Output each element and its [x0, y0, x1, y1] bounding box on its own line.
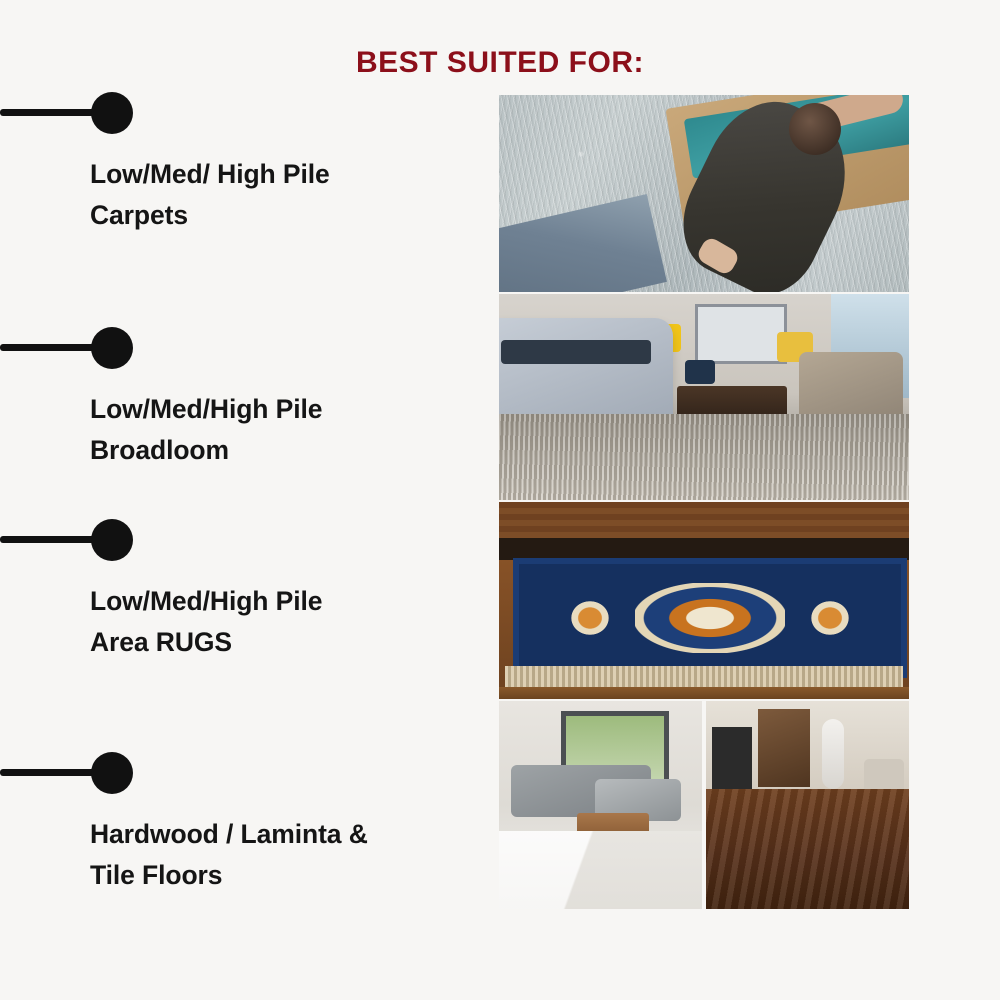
- chair-shape: [864, 759, 904, 793]
- broadloom-living-room-photo: [499, 294, 909, 500]
- persian-rug: [513, 558, 907, 678]
- floor-lamp: [822, 719, 844, 789]
- list-item-label: Hardwood / Laminta & Tile Floors: [90, 814, 510, 896]
- rug-ornament-right: [801, 592, 859, 644]
- sofa-shape: [499, 318, 673, 428]
- hardwood-floor-photo: [706, 701, 909, 909]
- hardwood-laminate-floor: [706, 789, 909, 909]
- list-item-line2: Carpets: [90, 200, 188, 230]
- sofa-cushion: [501, 340, 651, 364]
- bullet-dot: [91, 327, 133, 369]
- tile-floor-photo: [499, 701, 702, 909]
- broadloom-carpet: [499, 414, 909, 500]
- list-item-line2: Tile Floors: [90, 860, 222, 890]
- photo-column: [499, 95, 909, 909]
- area-rug-photo: [499, 502, 909, 699]
- black-shelf: [712, 727, 752, 789]
- bullet-dot: [91, 92, 133, 134]
- wood-wall: [499, 502, 909, 538]
- list-item-label: Low/Med/High Pile Area RUGS: [90, 581, 470, 663]
- list-item-label: Low/Med/ High Pile Carpets: [90, 154, 470, 236]
- wood-wall-panel: [758, 709, 810, 787]
- list-item-label: Low/Med/High Pile Broadloom: [90, 389, 470, 471]
- list-item-line1: Low/Med/High Pile: [90, 586, 322, 616]
- infographic-page: BEST SUITED FOR: Low/Med/ High Pile Carp…: [0, 0, 1000, 1000]
- bullet-dot: [91, 519, 133, 561]
- wall-art: [695, 304, 787, 364]
- throw-pillow: [685, 360, 715, 384]
- bullet-dot: [91, 752, 133, 794]
- list-item-line1: Low/Med/ High Pile: [90, 159, 330, 189]
- rug-medallion: [635, 583, 785, 653]
- feature-list: Low/Med/ High Pile Carpets Low/Med/High …: [0, 0, 480, 1000]
- list-item-line1: Low/Med/High Pile: [90, 394, 322, 424]
- shag-carpet-photo: [499, 95, 909, 292]
- hardwood-floor-strip: [499, 687, 909, 699]
- shadow-band: [499, 538, 909, 560]
- list-item-line1: Hardwood / Laminta &: [90, 819, 368, 849]
- list-item-line2: Area RUGS: [90, 627, 232, 657]
- list-item-line2: Broadloom: [90, 435, 229, 465]
- marble-tile-floor: [499, 831, 702, 909]
- rug-ornament-left: [561, 592, 619, 644]
- woman-head: [789, 103, 841, 155]
